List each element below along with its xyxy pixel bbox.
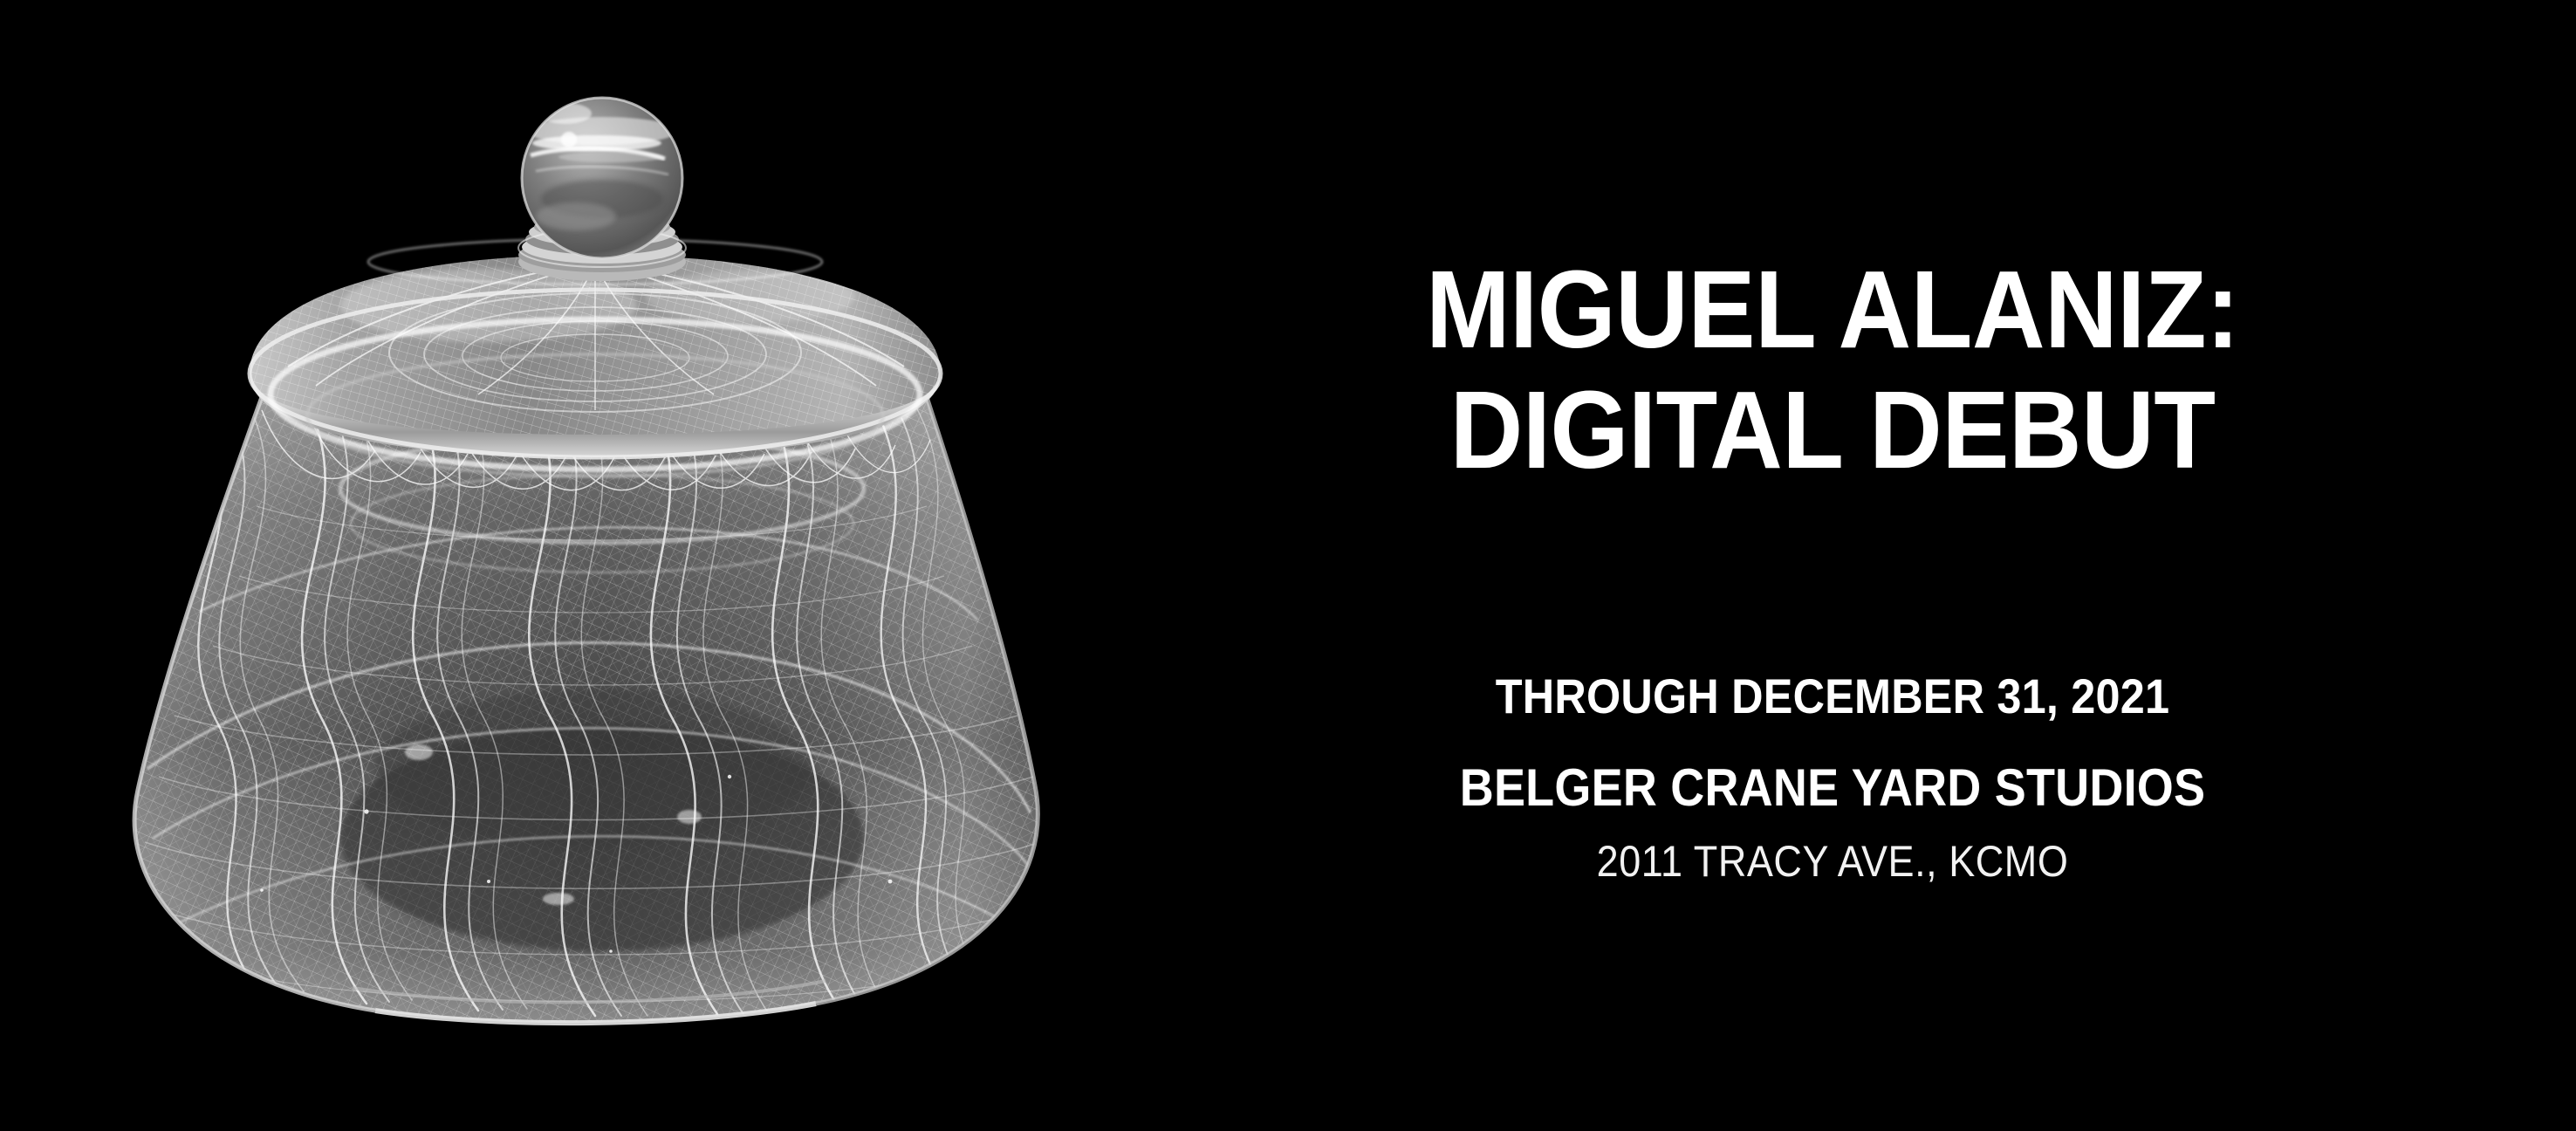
- exhibition-dates: THROUGH DECEMBER 31, 2021: [1204, 672, 2461, 721]
- exhibition-title-line-2: DIGITAL DEBUT: [1190, 375, 2475, 485]
- glass-jar-illustration: [0, 0, 1222, 1131]
- glass-knob-finial: [522, 98, 682, 258]
- exhibition-title-line-1: MIGUEL ALANIZ:: [1190, 255, 2475, 365]
- artwork-image: [0, 0, 1222, 1131]
- exhibition-address: 2011 TRACY AVE., KCMO: [1204, 840, 2461, 883]
- exhibition-venue: BELGER CRANE YARD STUDIOS: [1204, 762, 2461, 814]
- exhibition-banner: MIGUEL ALANIZ: DIGITAL DEBUT THROUGH DEC…: [0, 0, 2576, 1131]
- banner-text-block: MIGUEL ALANIZ: DIGITAL DEBUT THROUGH DEC…: [1134, 0, 2531, 1131]
